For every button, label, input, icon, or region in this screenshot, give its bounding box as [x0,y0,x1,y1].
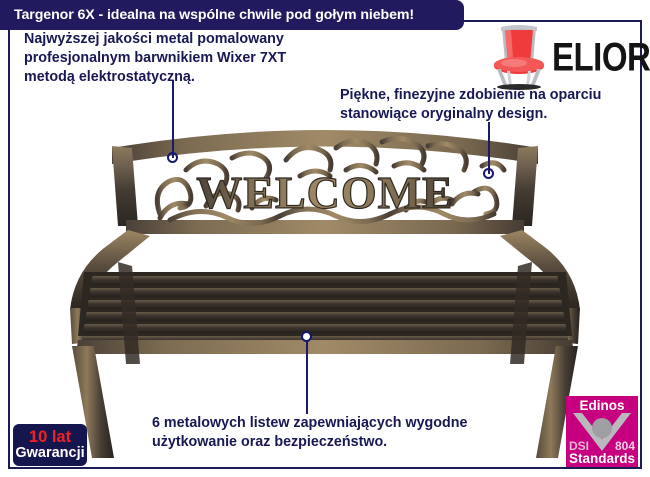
callout-backrest-design: Piękne, finezyjne zdobienie na oparciu s… [340,86,601,124]
brand-logo[interactable]: ELIOR [488,20,640,92]
warranty-years: 10 lat [29,429,71,446]
header-ribbon: Targenor 6X - idealna na wspólne chwile … [0,0,464,30]
product-infographic: WELCOME [0,0,650,477]
callout-slats-line2: użytkowanie oraz bezpieczeństwo. [152,433,467,452]
bench-seat [76,272,574,354]
callout-slats-line1: 6 metalowych listew zapewniających wygod… [152,414,467,433]
bench-product-image: WELCOME [0,96,650,464]
page-title: Targenor 6X - idealna na wspólne chwile … [0,7,414,23]
red-chair-icon [488,22,550,90]
warranty-label: Gwarancji [15,446,84,461]
callout-seat-slats: 6 metalowych listew zapewniających wygod… [152,414,467,452]
callout-metal-line3: metodą elektrostatyczną. [24,68,286,87]
bench-backrest: WELCOME [112,130,538,234]
callout-metal-line2: profesjonalnym barwnikiem Wixer 7XT [24,49,286,68]
certification-badge: Edinos DSI 804 Standards [566,396,638,467]
leader-line-seat-slats [306,336,308,414]
leader-marker-metal-finish [167,152,178,163]
backrest-welcome-text: WELCOME [196,167,453,218]
leader-line-metal-finish [172,80,174,158]
certification-standards-label: Standards [566,451,638,466]
brand-name: ELIOR [552,36,650,76]
leader-line-backrest-design [488,122,490,174]
callout-metal-line1: Najwyższej jakości metal pomalowany [24,30,286,49]
callout-design-line2: stanowiące oryginalny design. [340,105,601,124]
leader-marker-backrest-design [483,168,494,179]
warranty-badge: 10 lat Gwarancji [13,424,87,466]
callout-metal-finish: Najwyższej jakości metal pomalowany prof… [24,30,286,87]
callout-design-line1: Piękne, finezyjne zdobienie na oparciu [340,86,601,105]
leader-marker-seat-slats [301,331,312,342]
